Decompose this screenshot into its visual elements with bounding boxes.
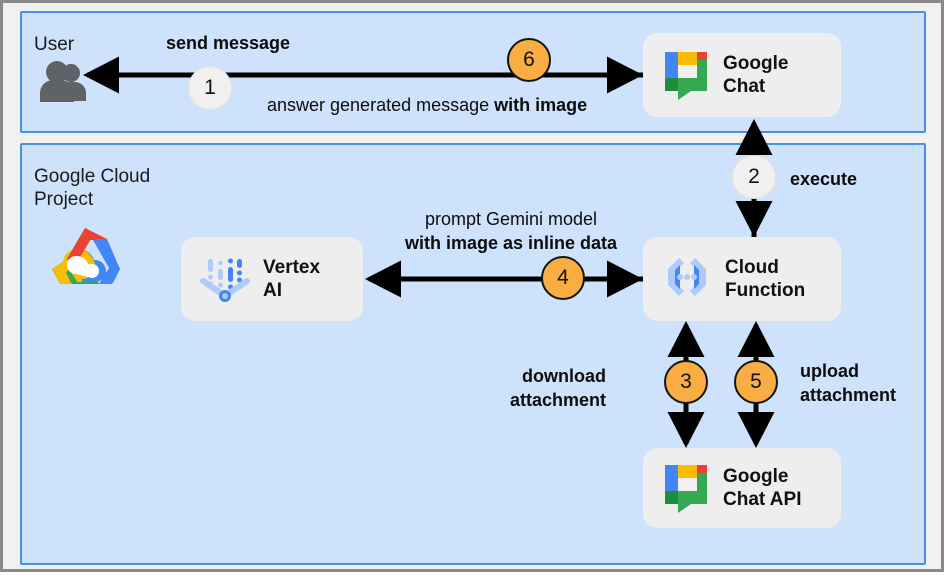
annotation-answer-regular: answer generated message xyxy=(267,95,494,115)
annotation-answer-generated-message: answer generated message with image xyxy=(267,93,587,117)
google-chat-icon xyxy=(659,46,713,105)
annotation-download-attachment: download attachment xyxy=(458,364,606,412)
step-badge-3[interactable]: 3 xyxy=(664,360,708,404)
cloud-function-icon xyxy=(659,249,715,310)
step-badge-1[interactable]: 1 xyxy=(188,66,232,110)
node-cloud-function-label: Cloud Function xyxy=(725,256,805,302)
step-badge-2[interactable]: 2 xyxy=(732,155,776,199)
google-chat-icon xyxy=(659,459,713,518)
node-google-chat-api[interactable]: Google Chat API xyxy=(643,448,841,528)
step-badge-5[interactable]: 5 xyxy=(734,360,778,404)
annotation-answer-bold: with image xyxy=(494,95,587,115)
annotation-prompt-gemini: prompt Gemini model with image as inline… xyxy=(386,183,636,279)
annotation-prompt-line2: with image as inline data xyxy=(386,231,636,255)
node-google-chat-api-label: Google Chat API xyxy=(723,465,801,511)
annotation-prompt-line1: prompt Gemini model xyxy=(425,209,597,229)
step-badge-6[interactable]: 6 xyxy=(507,38,551,82)
diagram-canvas: User Google Cloud Project xyxy=(0,0,944,572)
vertex-ai-icon xyxy=(197,249,253,310)
step-badge-4[interactable]: 4 xyxy=(541,256,585,300)
node-vertex-ai-label: Vertex AI xyxy=(263,256,320,302)
annotation-execute: execute xyxy=(790,167,857,191)
node-cloud-function[interactable]: Cloud Function xyxy=(643,237,841,321)
node-google-chat-label: Google Chat xyxy=(723,52,788,98)
node-vertex-ai[interactable]: Vertex AI xyxy=(181,237,363,321)
node-google-chat[interactable]: Google Chat xyxy=(643,33,841,117)
annotation-send-message: send message xyxy=(166,31,290,55)
annotation-upload-attachment: upload attachment xyxy=(800,359,940,407)
